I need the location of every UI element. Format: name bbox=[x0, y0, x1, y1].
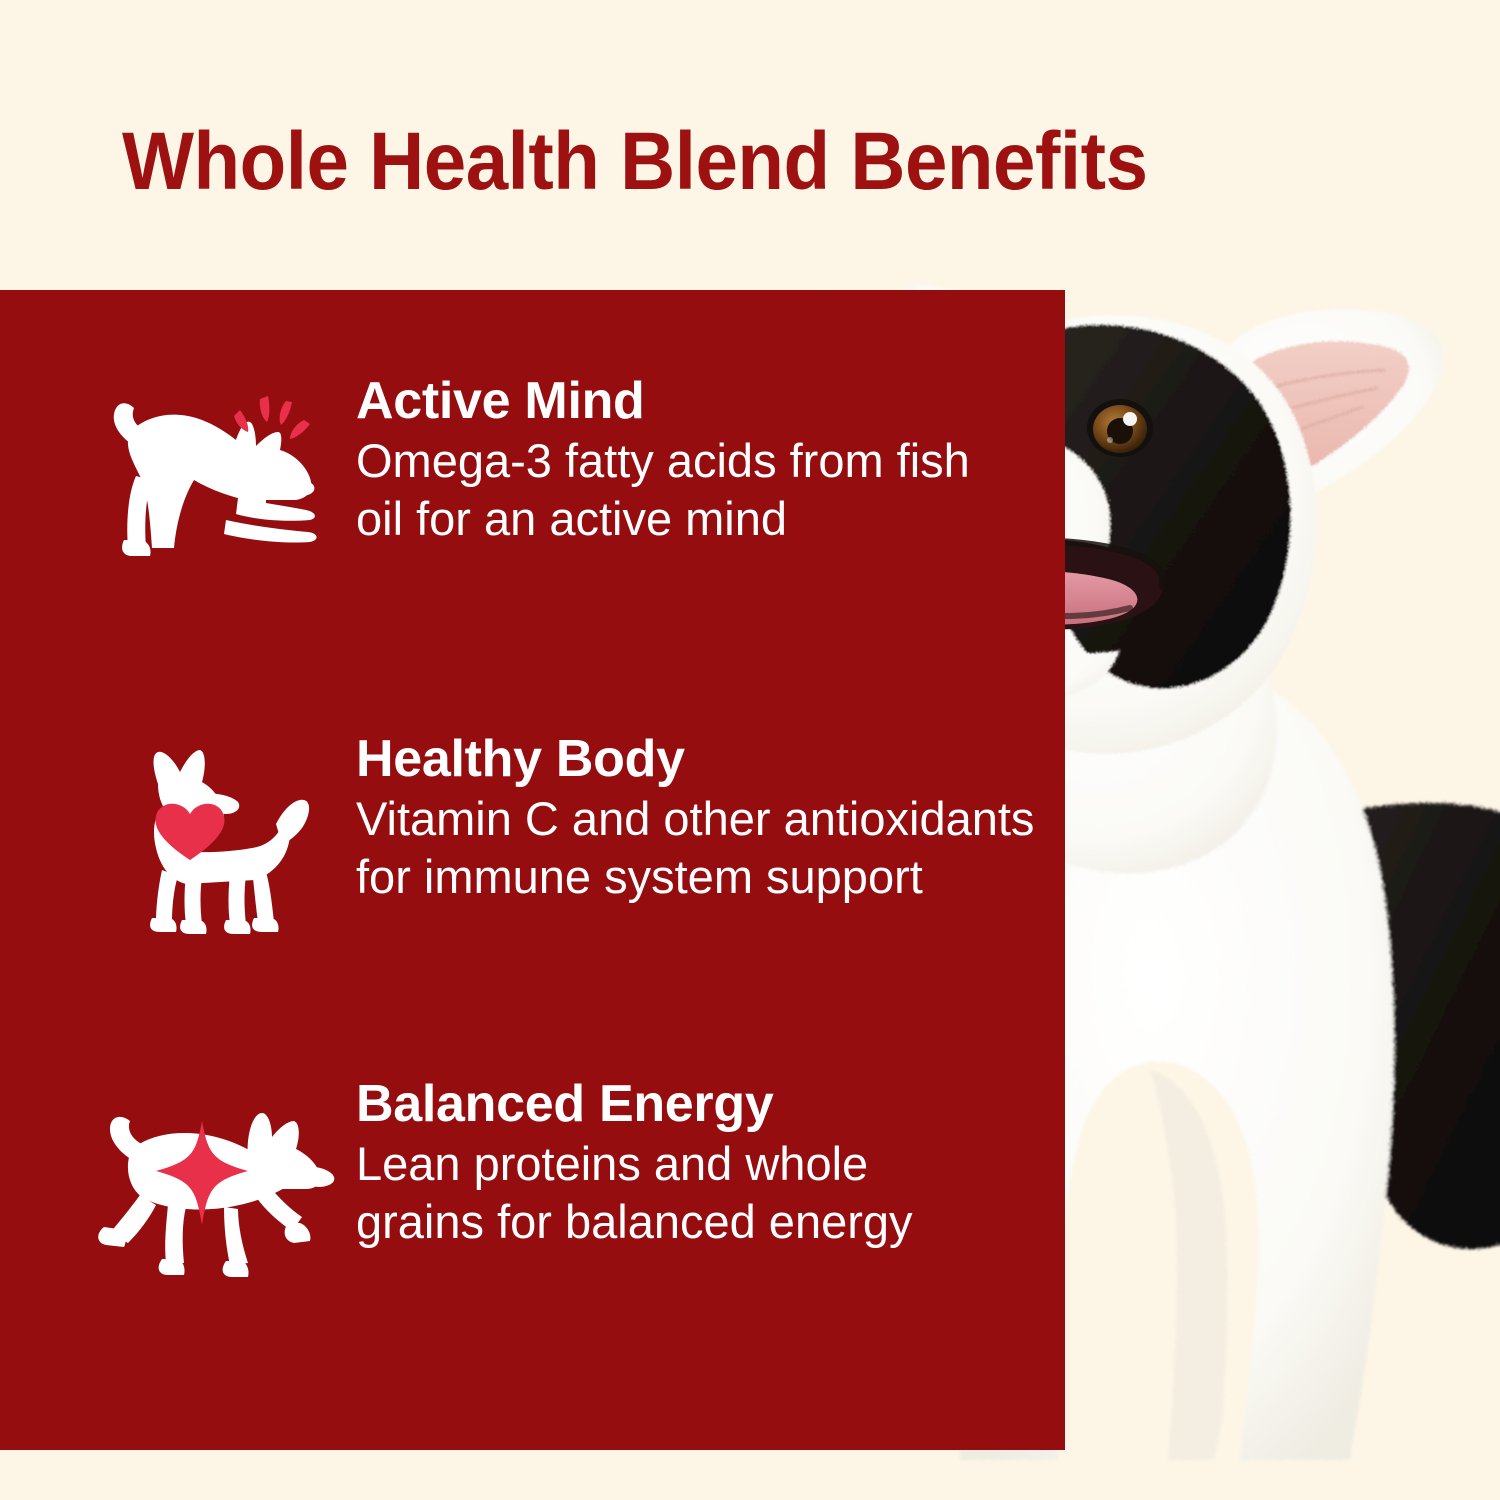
benefit-text-healthy-body: Healthy Body Vitamin C and other antioxi… bbox=[340, 730, 1050, 906]
benefit-heading: Active Mind bbox=[356, 372, 1050, 430]
benefit-heading: Balanced Energy bbox=[356, 1075, 1050, 1133]
benefit-description: Lean proteins and whole grains for balan… bbox=[356, 1135, 936, 1251]
benefit-item-active-mind: Active Mind Omega-3 fatty acids from fis… bbox=[90, 372, 1050, 580]
benefit-text-balanced-energy: Balanced Energy Lean proteins and whole … bbox=[340, 1075, 1050, 1251]
benefit-item-healthy-body: Healthy Body Vitamin C and other antioxi… bbox=[90, 730, 1050, 938]
dog-play-bow-spark-icon bbox=[90, 372, 340, 580]
benefit-text-active-mind: Active Mind Omega-3 fatty acids from fis… bbox=[340, 372, 1050, 548]
benefits-infographic: Whole Health Blend Benefits bbox=[0, 0, 1500, 1500]
benefit-heading: Healthy Body bbox=[356, 730, 1050, 788]
benefits-panel: Active Mind Omega-3 fatty acids from fis… bbox=[0, 290, 1065, 1450]
benefit-item-balanced-energy: Balanced Energy Lean proteins and whole … bbox=[90, 1075, 1050, 1283]
benefit-description: Omega-3 fatty acids from fish oil for an… bbox=[356, 432, 996, 548]
dog-running-sparkle-icon bbox=[90, 1075, 340, 1283]
dog-standing-heart-icon bbox=[90, 730, 340, 938]
benefits-list: Active Mind Omega-3 fatty acids from fis… bbox=[0, 290, 1065, 1450]
benefit-description: Vitamin C and other antioxidants for imm… bbox=[356, 790, 1036, 906]
